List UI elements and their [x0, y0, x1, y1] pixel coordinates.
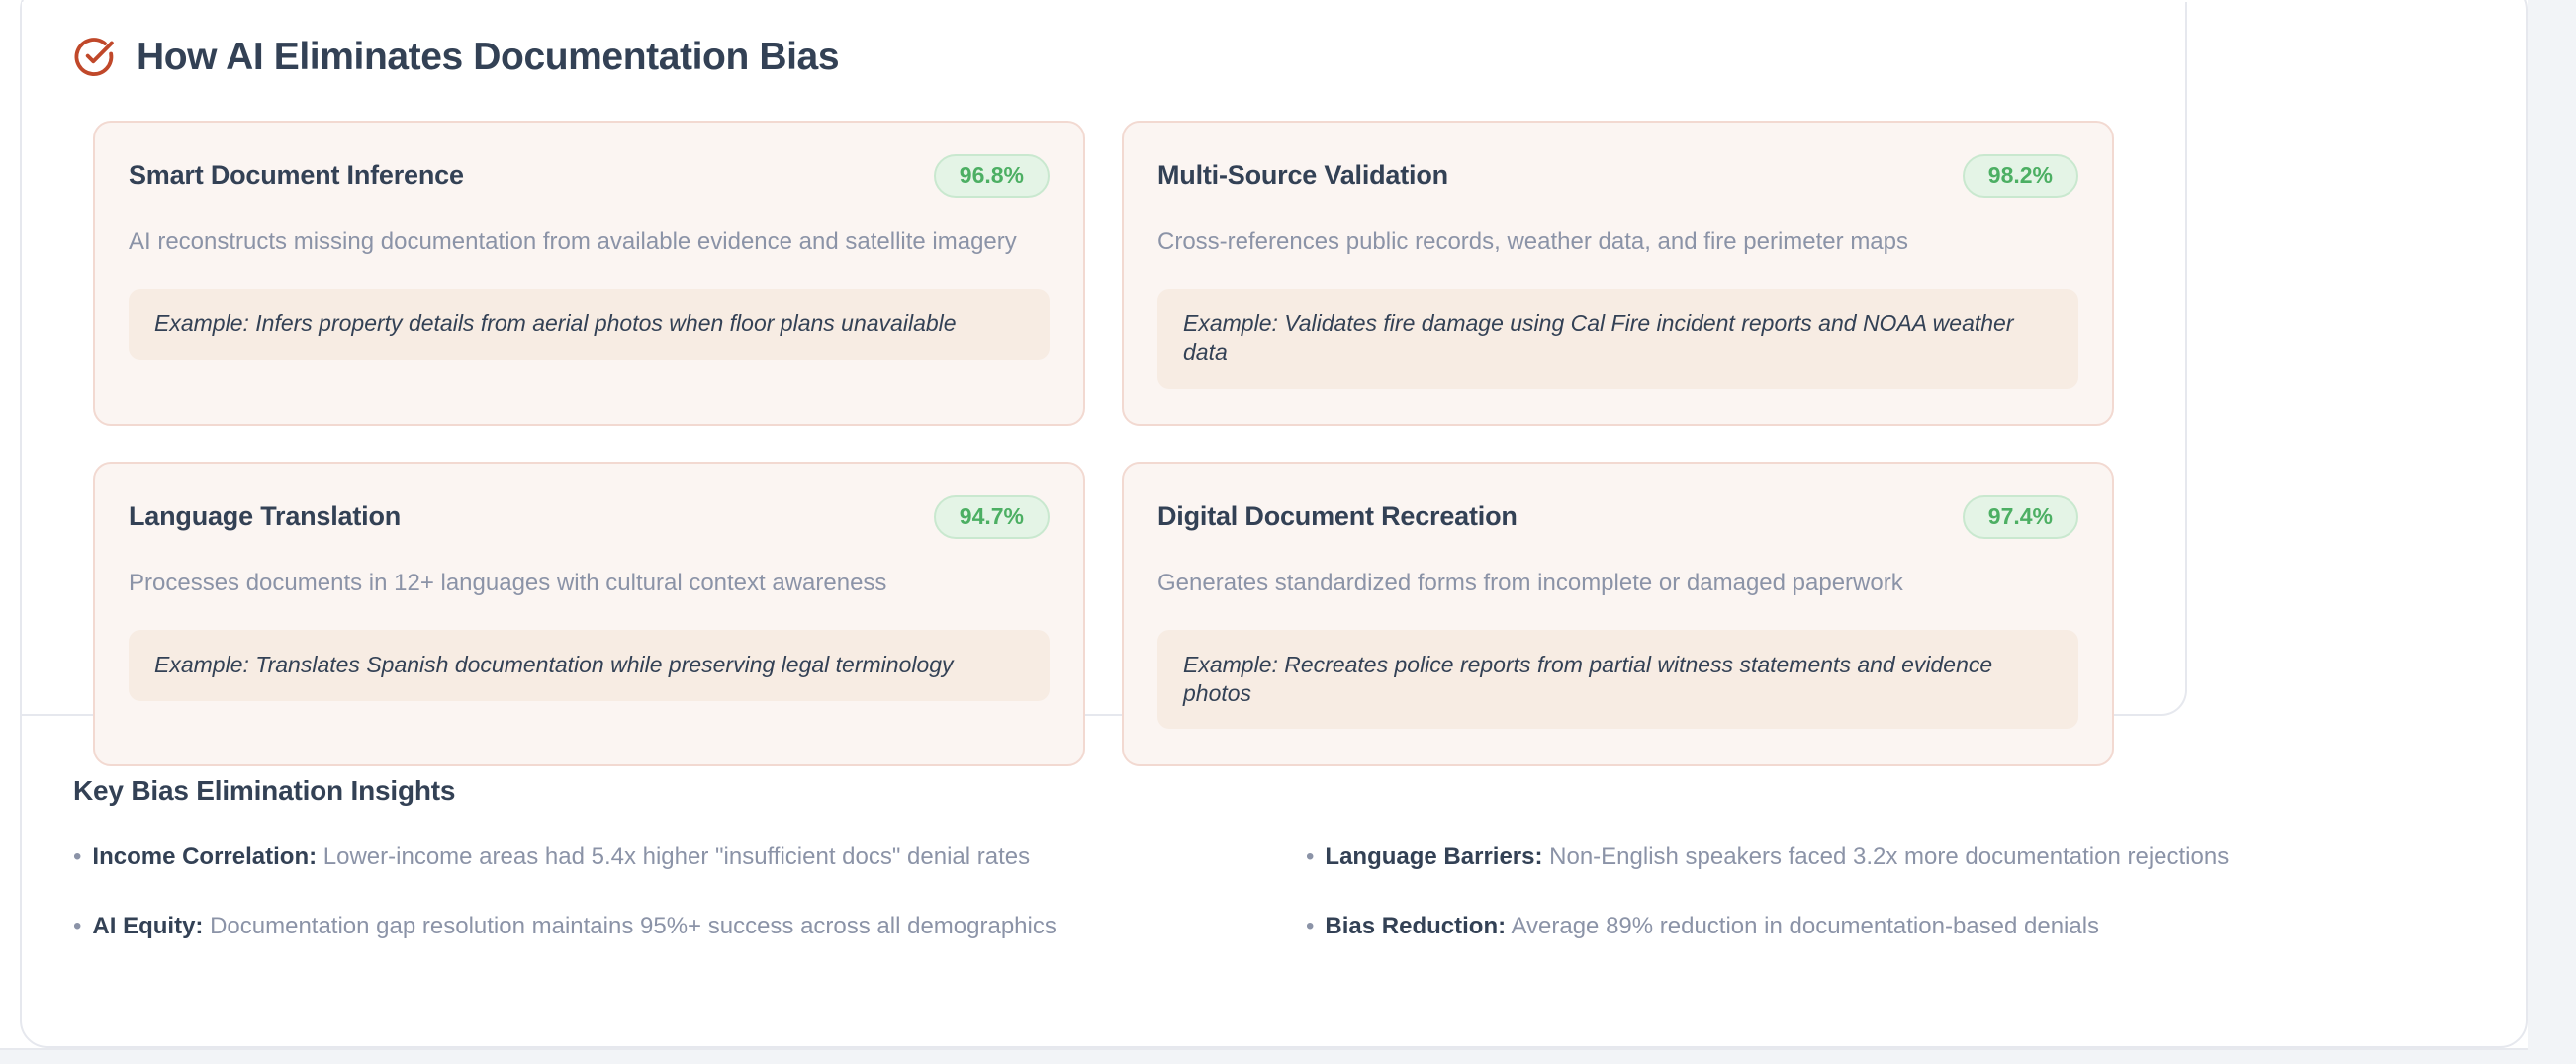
bullet-icon: •: [1306, 845, 1314, 869]
content-card: How AI Eliminates Documentation Bias Sma…: [20, 0, 2528, 1048]
insight-item: • Income Correlation: Lower-income areas…: [73, 842, 1244, 872]
feature-card-header: Language Translation 94.7%: [129, 495, 1050, 539]
insight-text: Lower-income areas had 5.4x higher "insu…: [323, 843, 1030, 870]
accuracy-badge: 94.7%: [934, 495, 1050, 539]
insight-item: • Language Barriers: Non-English speaker…: [1306, 842, 2477, 872]
feature-card-grid: Smart Document Inference 96.8% AI recons…: [22, 77, 2185, 766]
feature-card-example: Example: Recreates police reports from p…: [1157, 630, 2078, 730]
feature-card-description: Cross-references public records, weather…: [1157, 226, 2078, 257]
insight-label: Income Correlation:: [92, 843, 317, 870]
feature-card-title: Smart Document Inference: [129, 161, 464, 191]
insight-label: Bias Reduction:: [1325, 913, 1506, 939]
insight-label: Language Barriers:: [1325, 843, 1542, 870]
feature-card-title: Digital Document Recreation: [1157, 502, 1518, 532]
right-gutter: [2528, 0, 2576, 1064]
page-title: How AI Eliminates Documentation Bias: [137, 38, 839, 76]
feature-card[interactable]: Multi-Source Validation 98.2% Cross-refe…: [1122, 121, 2114, 426]
feature-card-example: Example: Infers property details from ae…: [129, 289, 1050, 360]
bullet-icon: •: [1306, 915, 1314, 938]
feature-card[interactable]: Digital Document Recreation 97.4% Genera…: [1122, 462, 2114, 767]
feature-card-description: Generates standardized forms from incomp…: [1157, 568, 2078, 598]
insight-item: • Bias Reduction: Average 89% reduction …: [1306, 912, 2477, 941]
feature-card-example: Example: Validates fire damage using Cal…: [1157, 289, 2078, 389]
circle-check-icon: [73, 36, 115, 77]
ai-bias-feature-panel: How AI Eliminates Documentation Bias Sma…: [22, 2, 2187, 716]
feature-card-header: Multi-Source Validation 98.2%: [1157, 154, 2078, 198]
insight-text: Non-English speakers faced 3.2x more doc…: [1549, 843, 2229, 870]
bullet-icon: •: [73, 915, 81, 938]
key-insights-section: Key Bias Elimination Insights • Income C…: [73, 775, 2477, 941]
accuracy-badge: 97.4%: [1963, 495, 2078, 539]
insight-label: AI Equity:: [92, 913, 203, 939]
feature-card-description: Processes documents in 12+ languages wit…: [129, 568, 1050, 598]
feature-card-title: Multi-Source Validation: [1157, 161, 1448, 191]
insight-text: Average 89% reduction in documentation-b…: [1511, 913, 2099, 939]
insight-item: • AI Equity: Documentation gap resolutio…: [73, 912, 1244, 941]
bottom-gutter: [0, 1050, 2576, 1064]
accuracy-badge: 96.8%: [934, 154, 1050, 198]
insights-title: Key Bias Elimination Insights: [73, 775, 2477, 807]
feature-card[interactable]: Language Translation 94.7% Processes doc…: [93, 462, 1085, 767]
feature-card-header: Smart Document Inference 96.8%: [129, 154, 1050, 198]
feature-card-header: Digital Document Recreation 97.4%: [1157, 495, 2078, 539]
insights-grid: • Income Correlation: Lower-income areas…: [73, 842, 2477, 941]
feature-card[interactable]: Smart Document Inference 96.8% AI recons…: [93, 121, 1085, 426]
feature-card-example: Example: Translates Spanish documentatio…: [129, 630, 1050, 701]
feature-card-description: AI reconstructs missing documentation fr…: [129, 226, 1050, 257]
insight-text: Documentation gap resolution maintains 9…: [210, 913, 1057, 939]
accuracy-badge: 98.2%: [1963, 154, 2078, 198]
panel-header: How AI Eliminates Documentation Bias: [22, 2, 2185, 77]
page-shell: How AI Eliminates Documentation Bias Sma…: [0, 0, 2576, 1064]
feature-card-title: Language Translation: [129, 502, 401, 532]
bullet-icon: •: [73, 845, 81, 869]
